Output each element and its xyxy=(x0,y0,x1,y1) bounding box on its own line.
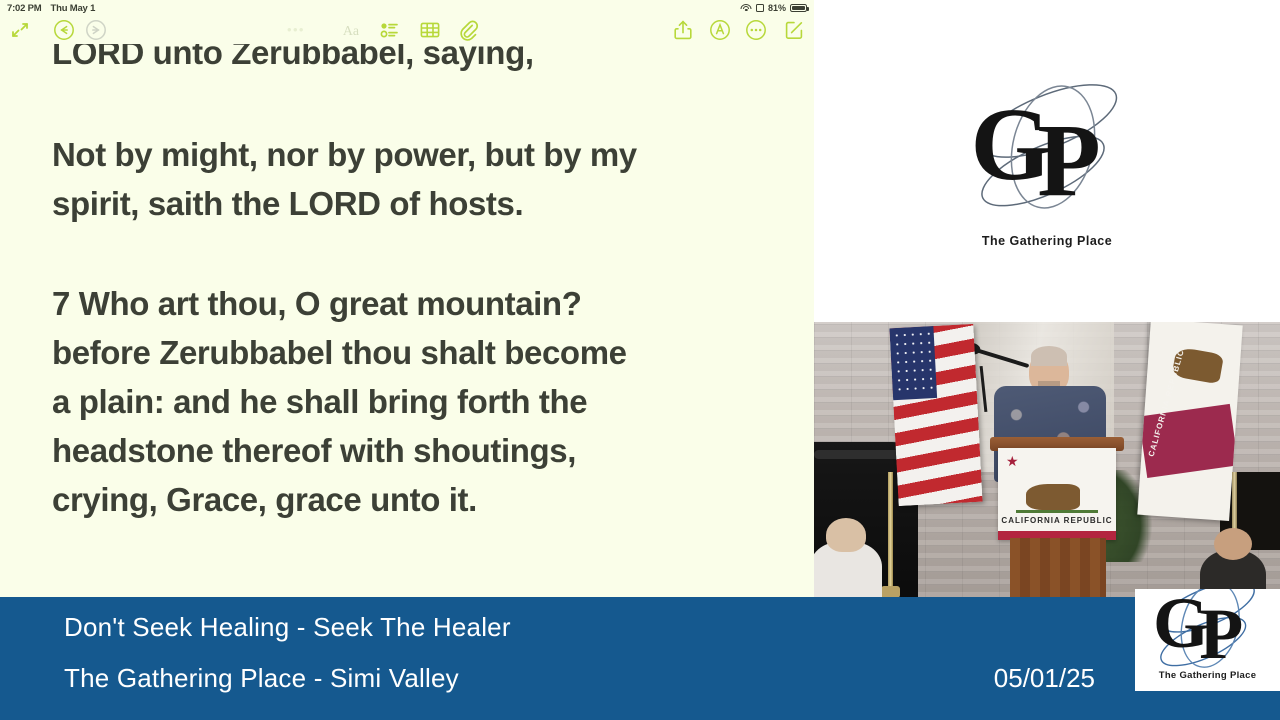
share-icon[interactable] xyxy=(671,18,695,42)
exit-fullscreen-icon[interactable] xyxy=(8,18,32,42)
note-line: crying, Grace, grace unto it. xyxy=(52,475,762,524)
us-flag-pole xyxy=(888,472,893,590)
compose-icon[interactable] xyxy=(782,18,806,42)
sermon-video-feed[interactable]: CALIFORNIA REPUBLIC ★ CALIFORNIA REPUBLI… xyxy=(814,322,1280,598)
notes-app-panel: 7:02 PM Thu May 1 81% xyxy=(0,0,814,598)
note-text-body[interactable]: LORD unto Zerubbabel, saying, Not by mig… xyxy=(0,0,814,598)
note-blank-line xyxy=(52,228,762,279)
note-line: 7 Who art thou, O great mountain? xyxy=(52,279,762,328)
attachment-icon[interactable] xyxy=(456,18,480,42)
note-line: before Zerubbabel thou shalt become xyxy=(52,328,762,377)
more-circle-icon[interactable] xyxy=(744,18,768,42)
podium-banner-caption: CALIFORNIA REPUBLIC xyxy=(998,516,1116,525)
church-location: The Gathering Place - Simi Valley xyxy=(64,663,459,694)
svg-text:Aa: Aa xyxy=(343,23,359,38)
status-time: 7:02 PM xyxy=(7,3,42,14)
lower-third-banner: Don't Seek Healing - Seek The Healer The… xyxy=(0,597,1280,720)
podium-bear xyxy=(1026,484,1080,510)
notes-toolbar: ••• Aa xyxy=(0,16,814,44)
status-right-group: 81% xyxy=(741,3,807,13)
markup-icon[interactable] xyxy=(708,18,732,42)
text-format-icon[interactable]: Aa xyxy=(338,18,364,42)
logo-caption: The Gathering Place xyxy=(942,234,1152,248)
note-line: a plain: and he shall bring forth the xyxy=(52,377,762,426)
sermon-date: 05/01/25 xyxy=(994,663,1095,694)
undo-icon[interactable] xyxy=(52,18,76,42)
redo-icon[interactable] xyxy=(84,18,108,42)
wifi-icon xyxy=(741,4,752,13)
note-line: spirit, saith the LORD of hosts. xyxy=(52,179,762,228)
svg-text:P: P xyxy=(1037,103,1101,218)
california-flag: CALIFORNIA REPUBLIC xyxy=(1137,322,1242,521)
note-line: Not by might, nor by power, but by my xyxy=(52,130,762,179)
svg-text:P: P xyxy=(1199,594,1243,674)
battery-icon xyxy=(790,4,807,13)
corner-logo-caption: The Gathering Place xyxy=(1135,670,1280,681)
gathering-place-logo-icon: G P xyxy=(1143,589,1269,679)
gathering-place-logo-icon: G P xyxy=(957,75,1137,225)
more-dots-icon[interactable]: ••• xyxy=(287,23,305,36)
video-scene: CALIFORNIA REPUBLIC ★ CALIFORNIA REPUBLI… xyxy=(814,322,1280,598)
us-flag-canton xyxy=(889,326,937,400)
church-logo-panel: G P The Gathering Place xyxy=(814,0,1280,322)
status-date: Thu May 1 xyxy=(51,3,96,14)
podium-grass-line xyxy=(1016,510,1098,513)
square-icon xyxy=(756,4,764,12)
audience-member xyxy=(814,542,882,598)
us-flag xyxy=(889,324,982,506)
logo-wrap: G P The Gathering Place xyxy=(942,75,1152,248)
battery-percent: 81% xyxy=(768,3,786,13)
note-line: headstone thereof with shoutings, xyxy=(52,426,762,475)
podium-banner: ★ CALIFORNIA REPUBLIC xyxy=(998,448,1116,540)
screen: 7:02 PM Thu May 1 81% xyxy=(0,0,1280,720)
ios-status-bar: 7:02 PM Thu May 1 81% xyxy=(0,0,814,16)
checklist-icon[interactable] xyxy=(378,18,402,42)
sermon-title: Don't Seek Healing - Seek The Healer xyxy=(64,612,511,643)
note-blank-line xyxy=(52,79,762,130)
podium-base xyxy=(1010,538,1106,598)
corner-logo-badge: G P The Gathering Place xyxy=(1135,589,1280,691)
table-icon[interactable] xyxy=(418,18,442,42)
